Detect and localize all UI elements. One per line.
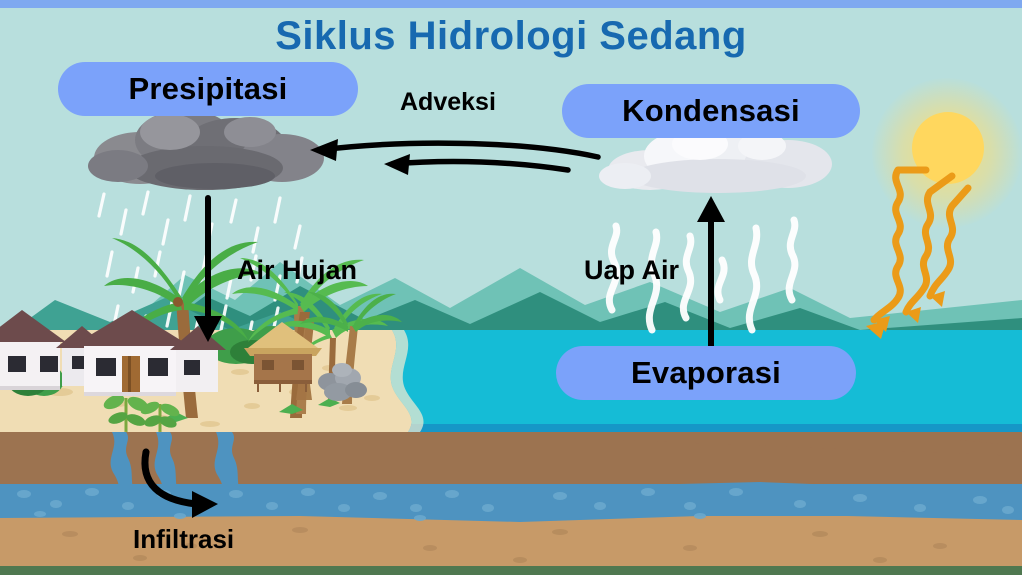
label-evaporasi[interactable]: Evaporasi [556,346,856,400]
grass-tuft-icon [162,398,340,422]
label-air-hujan: Air Hujan [237,255,357,286]
sun-icon [912,112,984,184]
label-infiltrasi: Infiltrasi [133,524,234,555]
thatched-hut-icon [244,322,322,392]
sky-top-strip [0,0,1022,8]
label-kondensasi[interactable]: Kondensasi [562,84,860,138]
hydrologic-cycle-diagram: Siklus Hidrologi Sedang Presipitasi Kond… [0,0,1022,575]
palm-tree-icon [296,318,314,414]
soil-upper-layer [0,432,1022,492]
palm-tree-icon [296,322,314,400]
label-uap-air: Uap Air [584,255,679,286]
bush-icon [0,326,298,396]
bottom-grass-strip [0,566,1022,575]
sand-icon [0,330,412,432]
sand-texture [47,365,380,427]
house-icon [56,326,108,386]
rock-pile-icon [318,363,367,401]
bush-dark-icon [8,340,274,396]
palm-trunk-icon [328,338,336,400]
label-adveksi: Adveksi [400,88,496,117]
page-title: Siklus Hidrologi Sedang [0,14,1022,59]
house-icon [170,326,226,392]
label-presipitasi[interactable]: Presipitasi [58,62,358,116]
